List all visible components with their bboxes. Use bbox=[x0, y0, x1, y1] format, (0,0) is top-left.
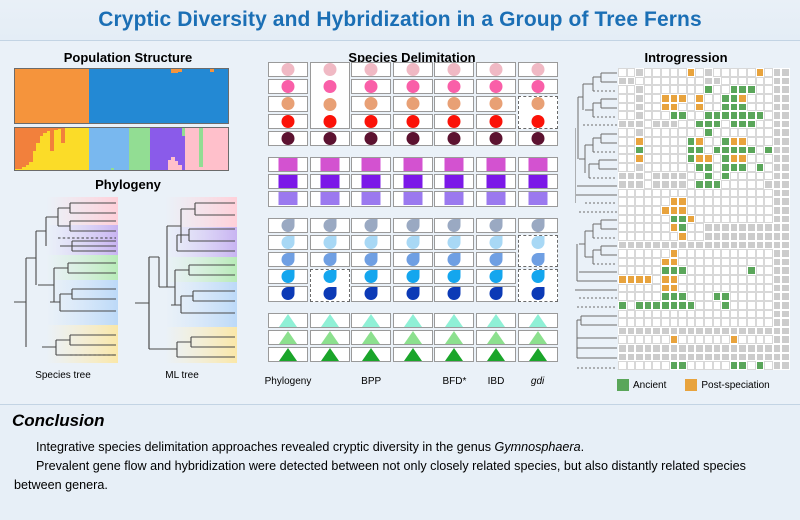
heatmap-cell[interactable] bbox=[661, 94, 670, 103]
delimitation-cell[interactable] bbox=[268, 286, 308, 301]
heatmap-cell[interactable] bbox=[695, 172, 704, 181]
heatmap-cell[interactable] bbox=[635, 284, 644, 293]
heatmap-cell[interactable] bbox=[773, 292, 782, 301]
heatmap-cell[interactable] bbox=[781, 85, 790, 94]
heatmap-cell[interactable] bbox=[713, 223, 722, 232]
heatmap-cell[interactable] bbox=[713, 68, 722, 77]
heatmap-cell[interactable] bbox=[713, 335, 722, 344]
heatmap-cell[interactable] bbox=[687, 232, 696, 241]
heatmap-cell[interactable] bbox=[678, 206, 687, 215]
heatmap-cell[interactable] bbox=[644, 335, 653, 344]
heatmap-cell[interactable] bbox=[747, 275, 756, 284]
heatmap-cell[interactable] bbox=[635, 68, 644, 77]
heatmap-cell[interactable] bbox=[738, 223, 747, 232]
heatmap-cell[interactable] bbox=[661, 275, 670, 284]
heatmap-cell[interactable] bbox=[652, 120, 661, 129]
heatmap-cell[interactable] bbox=[652, 284, 661, 293]
delimitation-cell[interactable] bbox=[268, 114, 308, 129]
delimitation-cell[interactable] bbox=[351, 252, 391, 267]
heatmap-cell[interactable] bbox=[618, 266, 627, 275]
heatmap-cell[interactable] bbox=[644, 103, 653, 112]
heatmap-cell[interactable] bbox=[678, 344, 687, 353]
delimitation-cell[interactable] bbox=[268, 235, 308, 250]
heatmap-cell[interactable] bbox=[695, 344, 704, 353]
heatmap-cell[interactable] bbox=[635, 146, 644, 155]
heatmap-cell[interactable] bbox=[756, 154, 765, 163]
heatmap-cell[interactable] bbox=[747, 327, 756, 336]
heatmap-cell[interactable] bbox=[721, 111, 730, 120]
delimitation-cell[interactable] bbox=[518, 269, 558, 301]
heatmap-cell[interactable] bbox=[644, 146, 653, 155]
heatmap-cell[interactable] bbox=[670, 344, 679, 353]
heatmap-cell[interactable] bbox=[661, 172, 670, 181]
heatmap-cell[interactable] bbox=[781, 103, 790, 112]
heatmap-cell[interactable] bbox=[747, 180, 756, 189]
delimitation-cell[interactable] bbox=[518, 131, 558, 146]
heatmap-cell[interactable] bbox=[738, 120, 747, 129]
heatmap-cell[interactable] bbox=[756, 292, 765, 301]
heatmap-cell[interactable] bbox=[738, 111, 747, 120]
heatmap-cell[interactable] bbox=[670, 310, 679, 319]
delimitation-cell[interactable] bbox=[476, 252, 516, 267]
heatmap-cell[interactable] bbox=[773, 180, 782, 189]
delimitation-cell[interactable] bbox=[434, 191, 474, 206]
heatmap-cell[interactable] bbox=[618, 361, 627, 370]
heatmap-cell[interactable] bbox=[713, 94, 722, 103]
heatmap-cell[interactable] bbox=[738, 215, 747, 224]
heatmap-cell[interactable] bbox=[764, 301, 773, 310]
heatmap-cell[interactable] bbox=[756, 301, 765, 310]
heatmap-cell[interactable] bbox=[713, 197, 722, 206]
heatmap-cell[interactable] bbox=[670, 266, 679, 275]
heatmap-cell[interactable] bbox=[661, 189, 670, 198]
heatmap-cell[interactable] bbox=[678, 223, 687, 232]
delimitation-cell[interactable] bbox=[518, 235, 558, 267]
heatmap-cell[interactable] bbox=[781, 266, 790, 275]
heatmap-cell[interactable] bbox=[781, 335, 790, 344]
heatmap-cell[interactable] bbox=[721, 284, 730, 293]
delimitation-cell[interactable] bbox=[268, 347, 308, 362]
heatmap-cell[interactable] bbox=[730, 232, 739, 241]
heatmap-cell[interactable] bbox=[687, 353, 696, 362]
delimitation-cell[interactable] bbox=[268, 330, 308, 345]
heatmap-cell[interactable] bbox=[773, 197, 782, 206]
heatmap-cell[interactable] bbox=[627, 292, 636, 301]
heatmap-cell[interactable] bbox=[695, 206, 704, 215]
delimitation-cell[interactable] bbox=[351, 313, 391, 328]
heatmap-cell[interactable] bbox=[644, 301, 653, 310]
heatmap-cell[interactable] bbox=[618, 284, 627, 293]
heatmap-cell[interactable] bbox=[713, 310, 722, 319]
delimitation-cell[interactable] bbox=[518, 174, 558, 189]
heatmap-cell[interactable] bbox=[644, 128, 653, 137]
heatmap-cell[interactable] bbox=[678, 275, 687, 284]
heatmap-cell[interactable] bbox=[721, 344, 730, 353]
delimitation-cell[interactable] bbox=[476, 96, 516, 111]
heatmap-cell[interactable] bbox=[652, 206, 661, 215]
heatmap-cell[interactable] bbox=[670, 111, 679, 120]
delimitation-cell[interactable] bbox=[476, 79, 516, 94]
heatmap-cell[interactable] bbox=[635, 292, 644, 301]
heatmap-cell[interactable] bbox=[747, 172, 756, 181]
heatmap-cell[interactable] bbox=[738, 284, 747, 293]
heatmap-cell[interactable] bbox=[644, 189, 653, 198]
heatmap-cell[interactable] bbox=[695, 249, 704, 258]
heatmap-cell[interactable] bbox=[695, 292, 704, 301]
heatmap-cell[interactable] bbox=[627, 172, 636, 181]
heatmap-cell[interactable] bbox=[730, 154, 739, 163]
heatmap-cell[interactable] bbox=[721, 275, 730, 284]
heatmap-cell[interactable] bbox=[764, 249, 773, 258]
heatmap-cell[interactable] bbox=[730, 137, 739, 146]
heatmap-cell[interactable] bbox=[618, 258, 627, 267]
heatmap-cell[interactable] bbox=[695, 284, 704, 293]
heatmap-cell[interactable] bbox=[635, 215, 644, 224]
heatmap-cell[interactable] bbox=[670, 120, 679, 129]
delimitation-cell[interactable] bbox=[518, 313, 558, 328]
heatmap-cell[interactable] bbox=[738, 258, 747, 267]
heatmap-cell[interactable] bbox=[678, 232, 687, 241]
heatmap-cell[interactable] bbox=[644, 327, 653, 336]
delimitation-cell[interactable] bbox=[434, 114, 474, 129]
heatmap-cell[interactable] bbox=[652, 310, 661, 319]
heatmap-cell[interactable] bbox=[627, 146, 636, 155]
delimitation-cell[interactable] bbox=[351, 191, 391, 206]
heatmap-cell[interactable] bbox=[738, 197, 747, 206]
heatmap-cell[interactable] bbox=[721, 266, 730, 275]
heatmap-cell[interactable] bbox=[618, 353, 627, 362]
heatmap-cell[interactable] bbox=[687, 344, 696, 353]
heatmap-cell[interactable] bbox=[670, 258, 679, 267]
heatmap-cell[interactable] bbox=[670, 172, 679, 181]
heatmap-cell[interactable] bbox=[764, 344, 773, 353]
heatmap-cell[interactable] bbox=[635, 197, 644, 206]
heatmap-cell[interactable] bbox=[704, 232, 713, 241]
heatmap-cell[interactable] bbox=[670, 163, 679, 172]
heatmap-cell[interactable] bbox=[730, 223, 739, 232]
heatmap-cell[interactable] bbox=[652, 292, 661, 301]
heatmap-cell[interactable] bbox=[678, 197, 687, 206]
heatmap-cell[interactable] bbox=[644, 275, 653, 284]
delimitation-cell[interactable] bbox=[351, 347, 391, 362]
heatmap-cell[interactable] bbox=[773, 344, 782, 353]
heatmap-cell[interactable] bbox=[721, 128, 730, 137]
heatmap-cell[interactable] bbox=[764, 284, 773, 293]
delimitation-cell[interactable] bbox=[476, 191, 516, 206]
delimitation-cell[interactable] bbox=[310, 313, 350, 328]
heatmap-cell[interactable] bbox=[747, 301, 756, 310]
heatmap-cell[interactable] bbox=[781, 172, 790, 181]
heatmap-cell[interactable] bbox=[738, 94, 747, 103]
heatmap-cell[interactable] bbox=[781, 128, 790, 137]
heatmap-cell[interactable] bbox=[670, 128, 679, 137]
heatmap-cell[interactable] bbox=[730, 206, 739, 215]
heatmap-cell[interactable] bbox=[713, 120, 722, 129]
heatmap-cell[interactable] bbox=[644, 292, 653, 301]
heatmap-cell[interactable] bbox=[695, 335, 704, 344]
heatmap-cell[interactable] bbox=[652, 215, 661, 224]
heatmap-cell[interactable] bbox=[618, 154, 627, 163]
delimitation-cell[interactable] bbox=[393, 330, 433, 345]
heatmap-cell[interactable] bbox=[738, 266, 747, 275]
heatmap-cell[interactable] bbox=[678, 327, 687, 336]
heatmap-cell[interactable] bbox=[618, 128, 627, 137]
heatmap-cell[interactable] bbox=[704, 275, 713, 284]
heatmap-cell[interactable] bbox=[652, 68, 661, 77]
heatmap-cell[interactable] bbox=[764, 94, 773, 103]
heatmap-cell[interactable] bbox=[627, 94, 636, 103]
heatmap-cell[interactable] bbox=[730, 77, 739, 86]
heatmap-cell[interactable] bbox=[764, 163, 773, 172]
heatmap-cell[interactable] bbox=[687, 163, 696, 172]
heatmap-cell[interactable] bbox=[644, 344, 653, 353]
heatmap-cell[interactable] bbox=[661, 77, 670, 86]
heatmap-cell[interactable] bbox=[687, 68, 696, 77]
heatmap-cell[interactable] bbox=[618, 301, 627, 310]
heatmap-cell[interactable] bbox=[678, 215, 687, 224]
heatmap-cell[interactable] bbox=[644, 266, 653, 275]
heatmap-cell[interactable] bbox=[764, 68, 773, 77]
heatmap-cell[interactable] bbox=[773, 232, 782, 241]
heatmap-cell[interactable] bbox=[661, 103, 670, 112]
heatmap-cell[interactable] bbox=[704, 154, 713, 163]
heatmap-cell[interactable] bbox=[652, 163, 661, 172]
heatmap-cell[interactable] bbox=[627, 197, 636, 206]
heatmap-cell[interactable] bbox=[687, 327, 696, 336]
delimitation-cell[interactable] bbox=[434, 286, 474, 301]
heatmap-cell[interactable] bbox=[713, 111, 722, 120]
heatmap-cell[interactable] bbox=[738, 310, 747, 319]
delimitation-cell[interactable] bbox=[518, 62, 558, 77]
heatmap-cell[interactable] bbox=[781, 292, 790, 301]
heatmap-cell[interactable] bbox=[747, 128, 756, 137]
heatmap-cell[interactable] bbox=[781, 344, 790, 353]
delimitation-cell[interactable] bbox=[351, 96, 391, 111]
heatmap-cell[interactable] bbox=[756, 361, 765, 370]
heatmap-cell[interactable] bbox=[627, 310, 636, 319]
delimitation-cell[interactable] bbox=[476, 235, 516, 250]
heatmap-cell[interactable] bbox=[670, 241, 679, 250]
heatmap-cell[interactable] bbox=[635, 172, 644, 181]
heatmap-cell[interactable] bbox=[687, 310, 696, 319]
heatmap-cell[interactable] bbox=[756, 189, 765, 198]
heatmap-cell[interactable] bbox=[721, 241, 730, 250]
heatmap-cell[interactable] bbox=[661, 310, 670, 319]
heatmap-cell[interactable] bbox=[730, 266, 739, 275]
heatmap-cell[interactable] bbox=[738, 103, 747, 112]
heatmap-cell[interactable] bbox=[670, 154, 679, 163]
heatmap-cell[interactable] bbox=[704, 197, 713, 206]
heatmap-cell[interactable] bbox=[670, 103, 679, 112]
heatmap-cell[interactable] bbox=[747, 94, 756, 103]
delimitation-cell[interactable] bbox=[434, 62, 474, 77]
heatmap-cell[interactable] bbox=[627, 206, 636, 215]
delimitation-cell[interactable] bbox=[310, 131, 350, 146]
heatmap-cell[interactable] bbox=[704, 258, 713, 267]
heatmap-cell[interactable] bbox=[695, 232, 704, 241]
heatmap-cell[interactable] bbox=[618, 310, 627, 319]
heatmap-cell[interactable] bbox=[661, 128, 670, 137]
heatmap-cell[interactable] bbox=[635, 128, 644, 137]
heatmap-cell[interactable] bbox=[730, 180, 739, 189]
heatmap-cell[interactable] bbox=[670, 301, 679, 310]
heatmap-cell[interactable] bbox=[661, 180, 670, 189]
heatmap-cell[interactable] bbox=[738, 180, 747, 189]
delimitation-cell[interactable] bbox=[434, 174, 474, 189]
heatmap-cell[interactable] bbox=[764, 258, 773, 267]
heatmap-cell[interactable] bbox=[721, 120, 730, 129]
heatmap-cell[interactable] bbox=[773, 318, 782, 327]
heatmap-cell[interactable] bbox=[678, 353, 687, 362]
delimitation-cell[interactable] bbox=[393, 269, 433, 284]
heatmap-cell[interactable] bbox=[644, 258, 653, 267]
heatmap-cell[interactable] bbox=[687, 361, 696, 370]
delimitation-cell[interactable] bbox=[351, 79, 391, 94]
heatmap-cell[interactable] bbox=[747, 85, 756, 94]
heatmap-cell[interactable] bbox=[721, 353, 730, 362]
heatmap-cell[interactable] bbox=[627, 361, 636, 370]
delimitation-cell[interactable] bbox=[476, 131, 516, 146]
heatmap-cell[interactable] bbox=[618, 94, 627, 103]
heatmap-cell[interactable] bbox=[721, 335, 730, 344]
heatmap-cell[interactable] bbox=[747, 232, 756, 241]
heatmap-cell[interactable] bbox=[652, 103, 661, 112]
delimitation-cell[interactable] bbox=[393, 62, 433, 77]
heatmap-cell[interactable] bbox=[721, 146, 730, 155]
heatmap-cell[interactable] bbox=[738, 77, 747, 86]
delimitation-cell[interactable] bbox=[393, 131, 433, 146]
heatmap-cell[interactable] bbox=[704, 103, 713, 112]
heatmap-cell[interactable] bbox=[738, 361, 747, 370]
delimitation-cell[interactable] bbox=[393, 174, 433, 189]
heatmap-cell[interactable] bbox=[644, 172, 653, 181]
heatmap-cell[interactable] bbox=[678, 310, 687, 319]
delimitation-cell[interactable] bbox=[434, 347, 474, 362]
heatmap-cell[interactable] bbox=[652, 335, 661, 344]
heatmap-cell[interactable] bbox=[756, 223, 765, 232]
heatmap-cell[interactable] bbox=[618, 85, 627, 94]
heatmap-cell[interactable] bbox=[704, 318, 713, 327]
heatmap-cell[interactable] bbox=[764, 180, 773, 189]
heatmap-cell[interactable] bbox=[764, 206, 773, 215]
heatmap-cell[interactable] bbox=[687, 275, 696, 284]
heatmap-cell[interactable] bbox=[635, 85, 644, 94]
delimitation-cell[interactable] bbox=[351, 330, 391, 345]
heatmap-cell[interactable] bbox=[695, 241, 704, 250]
heatmap-cell[interactable] bbox=[721, 94, 730, 103]
heatmap-cell[interactable] bbox=[738, 189, 747, 198]
heatmap-cell[interactable] bbox=[747, 215, 756, 224]
heatmap-cell[interactable] bbox=[781, 301, 790, 310]
heatmap-cell[interactable] bbox=[678, 301, 687, 310]
heatmap-cell[interactable] bbox=[644, 353, 653, 362]
heatmap-cell[interactable] bbox=[618, 344, 627, 353]
heatmap-cell[interactable] bbox=[687, 137, 696, 146]
heatmap-cell[interactable] bbox=[756, 284, 765, 293]
heatmap-cell[interactable] bbox=[773, 172, 782, 181]
delimitation-cell[interactable] bbox=[476, 62, 516, 77]
heatmap-cell[interactable] bbox=[661, 241, 670, 250]
heatmap-cell[interactable] bbox=[678, 180, 687, 189]
heatmap-cell[interactable] bbox=[747, 344, 756, 353]
heatmap-cell[interactable] bbox=[704, 120, 713, 129]
heatmap-cell[interactable] bbox=[756, 241, 765, 250]
delimitation-cell[interactable] bbox=[268, 218, 308, 233]
heatmap-cell[interactable] bbox=[756, 137, 765, 146]
delimitation-cell[interactable] bbox=[393, 114, 433, 129]
heatmap-cell[interactable] bbox=[661, 361, 670, 370]
delimitation-cell[interactable] bbox=[351, 131, 391, 146]
heatmap-cell[interactable] bbox=[652, 327, 661, 336]
heatmap-cell[interactable] bbox=[635, 241, 644, 250]
heatmap-cell[interactable] bbox=[618, 327, 627, 336]
heatmap-cell[interactable] bbox=[627, 344, 636, 353]
heatmap-cell[interactable] bbox=[670, 284, 679, 293]
heatmap-cell[interactable] bbox=[756, 77, 765, 86]
heatmap-cell[interactable] bbox=[661, 232, 670, 241]
heatmap-cell[interactable] bbox=[713, 327, 722, 336]
delimitation-cell[interactable] bbox=[393, 252, 433, 267]
heatmap-cell[interactable] bbox=[756, 318, 765, 327]
heatmap-cell[interactable] bbox=[652, 94, 661, 103]
heatmap-cell[interactable] bbox=[618, 77, 627, 86]
heatmap-cell[interactable] bbox=[652, 180, 661, 189]
heatmap-cell[interactable] bbox=[713, 189, 722, 198]
heatmap-cell[interactable] bbox=[738, 344, 747, 353]
heatmap-cell[interactable] bbox=[721, 154, 730, 163]
delimitation-cell[interactable] bbox=[268, 157, 308, 172]
heatmap-cell[interactable] bbox=[713, 232, 722, 241]
heatmap-cell[interactable] bbox=[773, 310, 782, 319]
heatmap-cell[interactable] bbox=[661, 120, 670, 129]
heatmap-cell[interactable] bbox=[704, 292, 713, 301]
heatmap-cell[interactable] bbox=[704, 335, 713, 344]
heatmap-cell[interactable] bbox=[661, 266, 670, 275]
heatmap-cell[interactable] bbox=[695, 301, 704, 310]
heatmap-cell[interactable] bbox=[730, 344, 739, 353]
heatmap-cell[interactable] bbox=[773, 146, 782, 155]
delimitation-cell[interactable] bbox=[518, 347, 558, 362]
heatmap-cell[interactable] bbox=[652, 85, 661, 94]
heatmap-cell[interactable] bbox=[627, 215, 636, 224]
heatmap-cell[interactable] bbox=[644, 163, 653, 172]
delimitation-cell[interactable] bbox=[351, 114, 391, 129]
heatmap-cell[interactable] bbox=[695, 68, 704, 77]
heatmap-cell[interactable] bbox=[756, 310, 765, 319]
heatmap-cell[interactable] bbox=[678, 146, 687, 155]
heatmap-cell[interactable] bbox=[773, 327, 782, 336]
heatmap-cell[interactable] bbox=[661, 292, 670, 301]
delimitation-cell[interactable] bbox=[393, 347, 433, 362]
heatmap-cell[interactable] bbox=[678, 335, 687, 344]
heatmap-cell[interactable] bbox=[670, 189, 679, 198]
heatmap-cell[interactable] bbox=[627, 154, 636, 163]
heatmap-cell[interactable] bbox=[781, 189, 790, 198]
heatmap-cell[interactable] bbox=[704, 172, 713, 181]
heatmap-cell[interactable] bbox=[661, 206, 670, 215]
heatmap-cell[interactable] bbox=[627, 327, 636, 336]
heatmap-cell[interactable] bbox=[627, 249, 636, 258]
heatmap-cell[interactable] bbox=[764, 137, 773, 146]
delimitation-cell[interactable] bbox=[518, 330, 558, 345]
heatmap-cell[interactable] bbox=[687, 128, 696, 137]
heatmap-cell[interactable] bbox=[747, 103, 756, 112]
heatmap-cell[interactable] bbox=[635, 258, 644, 267]
heatmap-cell[interactable] bbox=[721, 163, 730, 172]
heatmap-cell[interactable] bbox=[652, 275, 661, 284]
heatmap-cell[interactable] bbox=[773, 85, 782, 94]
heatmap-cell[interactable] bbox=[781, 275, 790, 284]
